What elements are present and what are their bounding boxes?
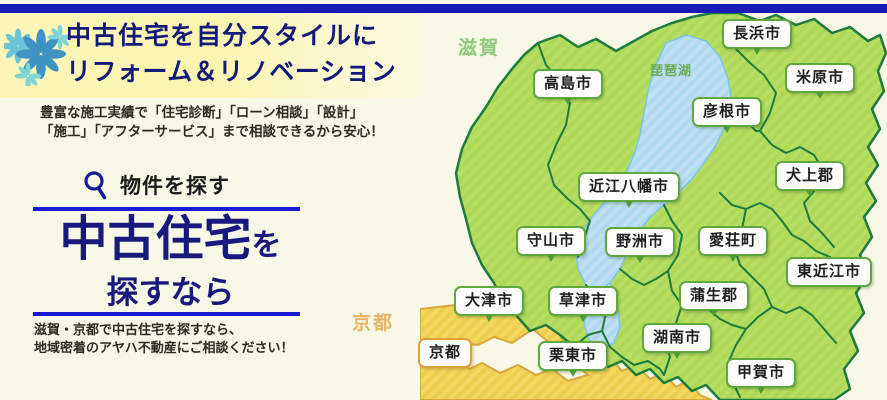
lead-copy-line1: 滋賀・京都で中古住宅を探すなら、 — [34, 322, 374, 340]
shiga-kyoto-map[interactable]: 滋賀 琵琶湖 長浜市 米原市 高島市 彦根市 犬上郡 近江八幡市 守山市 野洲市… — [420, 13, 887, 400]
promo-headline: 中古住宅を自分スタイルに リフォーム＆リノベーション — [66, 18, 466, 90]
map-pill-otsu[interactable]: 大津市 — [454, 286, 524, 316]
search-properties-link[interactable]: 物件を探す — [82, 168, 230, 202]
map-pill-hikone[interactable]: 彦根市 — [692, 97, 762, 127]
promo-headline-line2: リフォーム＆リノベーション — [66, 54, 466, 90]
main-heading-line1-big: 中古住宅 — [59, 211, 251, 267]
main-heading-line1-small: を — [252, 228, 282, 263]
map-pill-aisho[interactable]: 愛荘町 — [698, 226, 768, 256]
map-pill-kyoto[interactable]: 京都 — [418, 338, 472, 368]
map-pill-ritto[interactable]: 栗東市 — [538, 341, 608, 371]
search-icon — [82, 170, 110, 200]
top-blue-rule — [0, 4, 887, 13]
promo-subcopy-line1: 豊富な施工実績で「住宅診断」「ローン相談」「設計」 — [40, 104, 440, 123]
flower-cluster-icon — [4, 20, 70, 86]
headline-rule-bottom — [33, 312, 300, 316]
map-pill-takashima[interactable]: 高島市 — [533, 69, 603, 99]
map-pill-yasu[interactable]: 野洲市 — [605, 227, 675, 257]
map-pill-gamo-gun[interactable]: 蒲生郡 — [679, 281, 749, 311]
promo-subcopy: 豊富な施工実績で「住宅診断」「ローン相談」「設計」 「施工」「アフターサービス」… — [40, 104, 440, 142]
main-heading-line1: 中古住宅を — [33, 213, 308, 272]
main-heading: 中古住宅を 探すなら — [33, 213, 308, 312]
map-pill-moriyama[interactable]: 守山市 — [516, 226, 586, 256]
main-heading-line2: 探すなら — [33, 272, 308, 312]
map-pill-omihachiman[interactable]: 近江八幡市 — [578, 172, 680, 202]
map-pill-kusatsu[interactable]: 草津市 — [548, 286, 618, 316]
map-pill-inukami-gun[interactable]: 犬上郡 — [775, 161, 845, 191]
map-pill-koka[interactable]: 甲賀市 — [726, 358, 796, 388]
lead-copy: 滋賀・京都で中古住宅を探すなら、 地域密着のアヤハ不動産にご相談ください！ — [34, 322, 374, 358]
promo-subcopy-line2: 「施工」「アフターサービス」まで相談できるから安心！ — [40, 123, 440, 142]
lead-copy-line2: 地域密着のアヤハ不動産にご相談ください！ — [34, 340, 374, 358]
map-pill-nagahama[interactable]: 長浜市 — [722, 19, 792, 49]
map-pill-maibara[interactable]: 米原市 — [785, 63, 855, 93]
map-pill-konan[interactable]: 湖南市 — [642, 323, 712, 353]
lake-biwa-label: 琵琶湖 — [650, 60, 692, 79]
map-pill-higashiomi[interactable]: 東近江市 — [786, 257, 872, 287]
promo-headline-line1: 中古住宅を自分スタイルに — [66, 18, 466, 54]
hero-banner: 中古住宅を自分スタイルに リフォーム＆リノベーション 豊富な施工実績で「住宅診断… — [0, 0, 887, 400]
search-properties-label: 物件を探す — [120, 170, 230, 200]
